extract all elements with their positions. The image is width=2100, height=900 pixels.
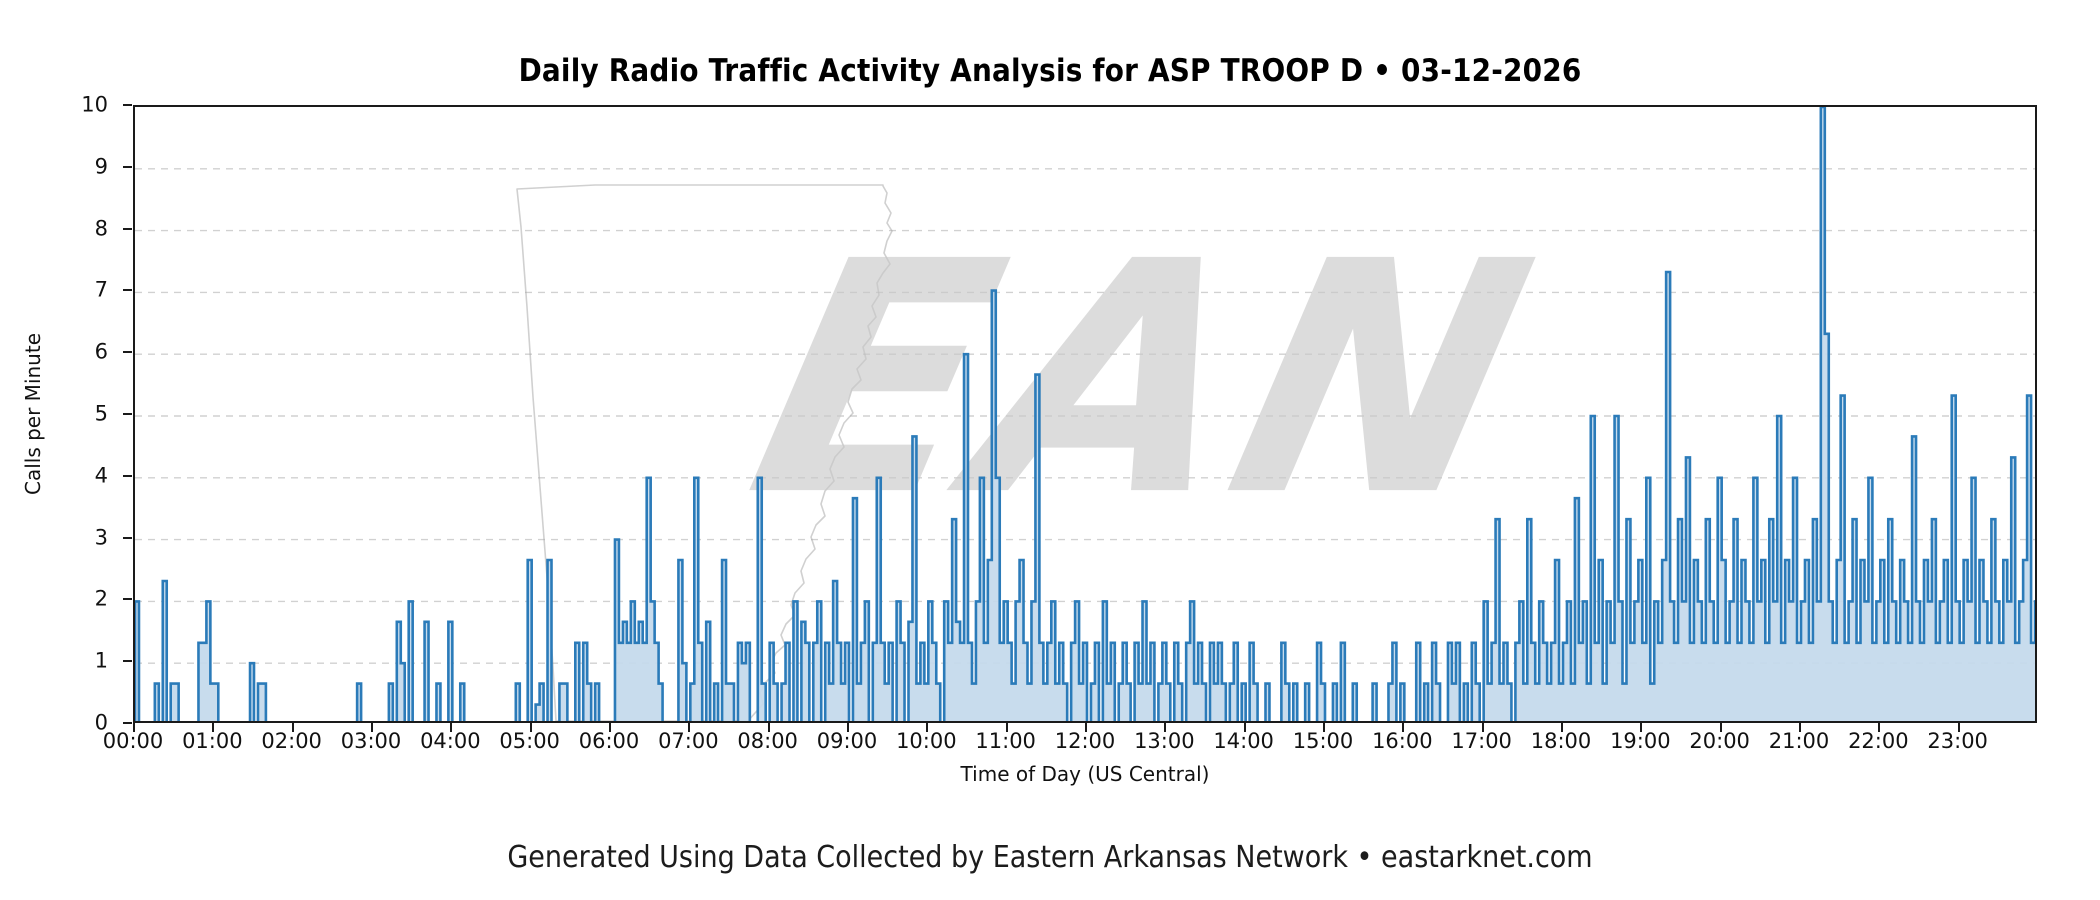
x-tick-mark [1482, 723, 1484, 732]
x-tick-label: 22:00 [1848, 731, 1909, 752]
y-tick-mark [123, 722, 132, 724]
y-tick-mark [123, 537, 132, 539]
y-tick-mark [123, 351, 132, 353]
x-tick-mark [1402, 723, 1404, 732]
footer-attribution: Generated Using Data Collected by Easter… [0, 840, 2100, 875]
y-tick-label: 2 [95, 589, 108, 610]
x-tick-mark [1958, 723, 1960, 732]
x-tick-label: 20:00 [1689, 731, 1750, 752]
x-tick-mark [450, 723, 452, 732]
chart-page: Daily Radio Traffic Activity Analysis fo… [0, 0, 2100, 900]
y-tick-label: 1 [95, 651, 108, 672]
activity-area-chart: EAN [135, 107, 2037, 723]
x-tick-label: 09:00 [817, 731, 878, 752]
x-tick-label: 00:00 [103, 731, 164, 752]
x-tick-label: 23:00 [1927, 731, 1988, 752]
ean-watermark: EAN [725, 194, 1563, 566]
x-tick-label: 01:00 [182, 731, 243, 752]
y-tick-mark [123, 289, 132, 291]
y-tick-label: 9 [95, 156, 108, 177]
y-tick-mark [123, 413, 132, 415]
y-axis-ticks: 012345678910 [0, 105, 125, 723]
x-tick-mark [1164, 723, 1166, 732]
x-tick-label: 19:00 [1610, 731, 1671, 752]
y-tick-label: 10 [81, 95, 108, 116]
y-tick-label: 6 [95, 342, 108, 363]
y-tick-label: 4 [95, 465, 108, 486]
x-tick-label: 02:00 [261, 731, 322, 752]
x-tick-mark [1561, 723, 1563, 732]
x-tick-mark [371, 723, 373, 732]
x-tick-mark [1323, 723, 1325, 732]
y-tick-label: 5 [95, 404, 108, 425]
x-tick-label: 14:00 [1213, 731, 1274, 752]
page-title: Daily Radio Traffic Activity Analysis fo… [0, 53, 2100, 89]
x-tick-mark [1878, 723, 1880, 732]
x-tick-label: 15:00 [1293, 731, 1354, 752]
x-tick-mark [609, 723, 611, 732]
x-tick-mark [1720, 723, 1722, 732]
x-tick-mark [1640, 723, 1642, 732]
x-tick-mark [768, 723, 770, 732]
x-tick-mark [212, 723, 214, 732]
x-tick-mark [133, 723, 135, 732]
x-tick-label: 04:00 [420, 731, 481, 752]
x-tick-label: 21:00 [1769, 731, 1830, 752]
y-tick-mark [123, 166, 132, 168]
x-tick-label: 12:00 [1055, 731, 1116, 752]
x-tick-label: 08:00 [737, 731, 798, 752]
x-axis-ticks: 00:0001:0002:0003:0004:0005:0006:0007:00… [133, 731, 2037, 761]
x-tick-mark [688, 723, 690, 732]
x-axis-label: Time of Day (US Central) [133, 762, 2037, 786]
plot-area: EAN [133, 105, 2037, 723]
y-tick-label: 3 [95, 527, 108, 548]
y-tick-mark [123, 104, 132, 106]
x-tick-mark [1799, 723, 1801, 732]
y-tick-mark [123, 598, 132, 600]
x-tick-label: 17:00 [1451, 731, 1512, 752]
x-tick-label: 05:00 [499, 731, 560, 752]
x-tick-label: 11:00 [975, 731, 1036, 752]
x-tick-mark [1244, 723, 1246, 732]
x-tick-mark [530, 723, 532, 732]
y-tick-label: 8 [95, 218, 108, 239]
x-tick-label: 03:00 [341, 731, 402, 752]
x-tick-mark [292, 723, 294, 732]
x-tick-mark [926, 723, 928, 732]
x-tick-label: 13:00 [1134, 731, 1195, 752]
y-tick-mark [123, 660, 132, 662]
x-tick-label: 10:00 [896, 731, 957, 752]
x-tick-mark [1006, 723, 1008, 732]
x-tick-label: 18:00 [1531, 731, 1592, 752]
x-tick-label: 16:00 [1372, 731, 1433, 752]
x-tick-label: 06:00 [579, 731, 640, 752]
x-tick-label: 07:00 [658, 731, 719, 752]
y-tick-mark [123, 228, 132, 230]
y-tick-label: 7 [95, 280, 108, 301]
y-tick-mark [123, 475, 132, 477]
x-tick-mark [847, 723, 849, 732]
svg-text:EAN: EAN [725, 194, 1563, 566]
x-tick-mark [1085, 723, 1087, 732]
plot-frame: EAN [133, 105, 2037, 723]
